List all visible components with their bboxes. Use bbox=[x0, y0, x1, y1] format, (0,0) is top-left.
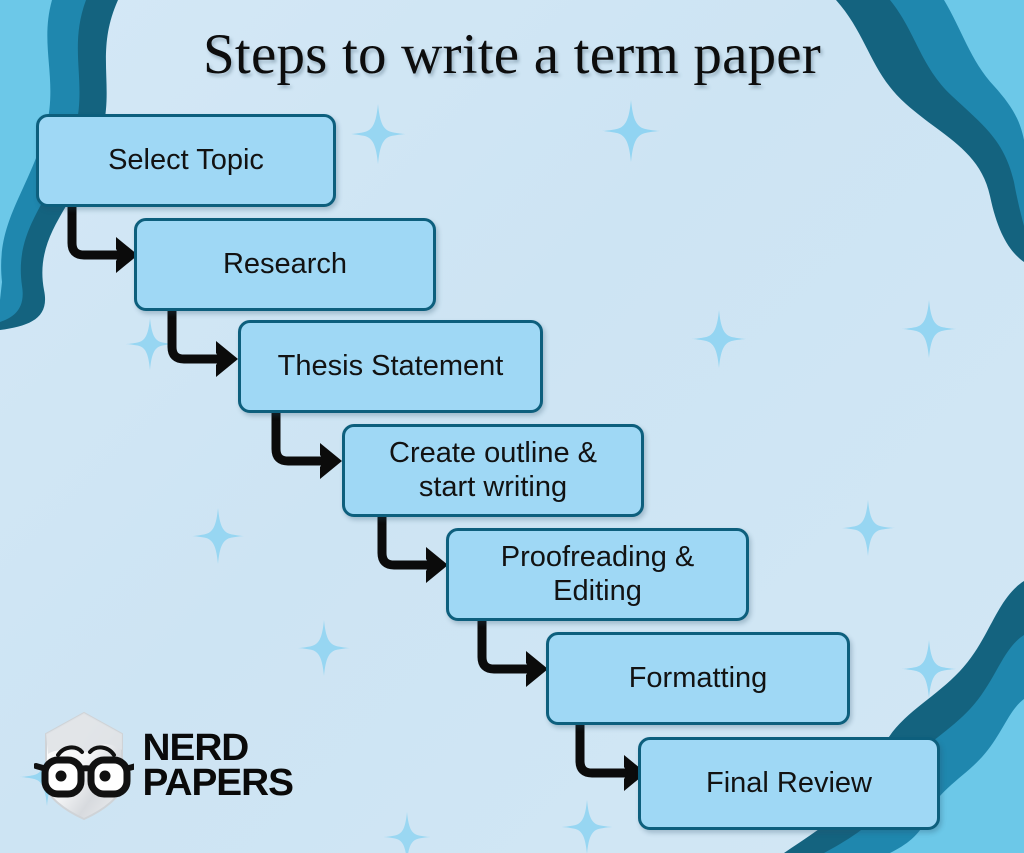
brand-logo[interactable]: NERD PAPERS bbox=[34, 706, 314, 826]
flow-step-label: Thesis Statement bbox=[278, 350, 504, 383]
logo-text-papers: PAPERS bbox=[143, 766, 293, 801]
sparkle-icon bbox=[382, 812, 432, 853]
sparkle-icon bbox=[840, 500, 896, 556]
flow-step-box[interactable]: Research bbox=[134, 218, 436, 311]
flow-step-label: Formatting bbox=[629, 662, 768, 695]
flow-step-label: Create outline &start writing bbox=[389, 437, 597, 504]
sparkle-icon bbox=[348, 104, 408, 164]
flow-step-label: Final Review bbox=[706, 767, 872, 800]
nerd-face-logo-icon bbox=[34, 710, 134, 822]
sparkle-icon bbox=[690, 310, 748, 368]
flow-step-box[interactable]: Final Review bbox=[638, 737, 940, 830]
logo-wordmark: NERD PAPERS bbox=[144, 731, 291, 802]
sparkle-icon bbox=[900, 640, 958, 698]
flow-step-box[interactable]: Formatting bbox=[546, 632, 850, 725]
sparkle-icon bbox=[296, 620, 352, 676]
infographic-canvas: Steps to write a term paper Select Topic… bbox=[0, 0, 1024, 853]
flow-step-label: Proofreading &Editing bbox=[501, 541, 694, 608]
page-title: Steps to write a term paper bbox=[0, 22, 1024, 87]
sparkle-icon bbox=[900, 300, 958, 358]
sparkle-icon bbox=[600, 100, 662, 162]
flow-step-label: Research bbox=[223, 248, 347, 281]
flow-step-box[interactable]: Proofreading &Editing bbox=[446, 528, 749, 621]
flow-step-box[interactable]: Select Topic bbox=[36, 114, 336, 207]
sparkle-icon bbox=[124, 318, 176, 370]
flow-step-box[interactable]: Create outline &start writing bbox=[342, 424, 644, 517]
sparkle-icon bbox=[560, 800, 614, 853]
sparkle-icon bbox=[190, 508, 246, 564]
logo-text-nerd: NERD bbox=[143, 731, 293, 766]
flow-step-label: Select Topic bbox=[108, 144, 264, 177]
flow-step-box[interactable]: Thesis Statement bbox=[238, 320, 543, 413]
